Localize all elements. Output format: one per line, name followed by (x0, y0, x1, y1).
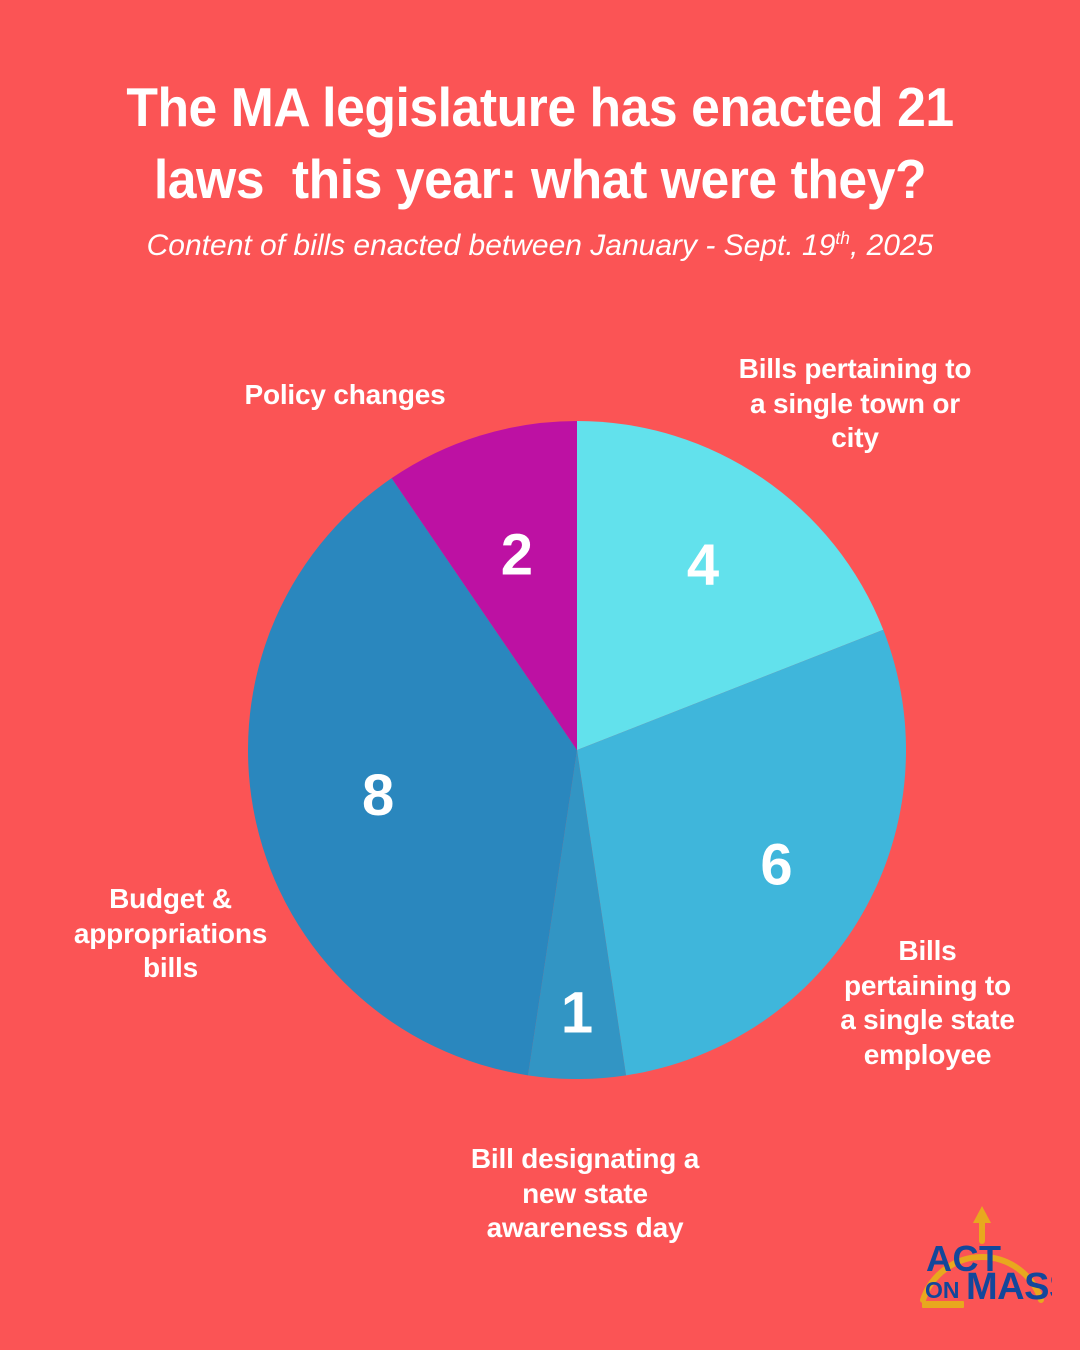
pie-label-line: pertaining to (800, 969, 1055, 1004)
pie-label-line: Bills pertaining to (700, 352, 1010, 387)
pie-label-line: Policy changes (190, 378, 500, 413)
logo-svg: ACT ON MASS (912, 1196, 1052, 1314)
logo-text-on: ON (925, 1277, 960, 1303)
pie-label-line: a single state (800, 1003, 1055, 1038)
page-subtitle: Content of bills enacted between January… (0, 228, 1080, 263)
pie-slice-value: 8 (362, 763, 394, 828)
page-subtitle-suffix: , 2025 (850, 229, 933, 262)
pie-label-line: appropriations (28, 917, 313, 952)
page-title: The MA legislature has enacted 21 laws t… (32, 72, 1047, 215)
pie-label-line: employee (800, 1038, 1055, 1073)
infographic-canvas: The MA legislature has enacted 21 laws t… (0, 0, 1080, 1350)
pie-label-line: new state (420, 1177, 750, 1212)
pie-label-line: Budget & (28, 882, 313, 917)
pie-label-policy-changes: Policy changes (190, 378, 500, 413)
logo-text-mass: MASS (966, 1266, 1052, 1308)
page-subtitle-prefix: Content of bills enacted between January… (147, 229, 836, 262)
pie-label-line: a single town or (700, 387, 1010, 422)
pie-slice-value: 1 (561, 981, 593, 1046)
pie-slice-value: 2 (501, 523, 533, 588)
pie-label-single-town-or-city: Bills pertaining to a single town or cit… (700, 352, 1010, 456)
pie-label-line: Bill designating a (420, 1142, 750, 1177)
pie-slice-value: 6 (760, 833, 792, 898)
pie-label-line: Bills (800, 934, 1055, 969)
pie-label-single-state-employee: Bills pertaining to a single state emplo… (800, 934, 1055, 1073)
pie-label-new-state-awareness-day: Bill designating a new state awareness d… (420, 1142, 750, 1246)
pie-slice-value: 4 (687, 533, 719, 598)
page-subtitle-superscript: th (835, 228, 850, 248)
pie-label-budget-appropriations-bills: Budget & appropriations bills (28, 882, 313, 986)
arrow-head-icon (973, 1206, 991, 1223)
act-on-mass-logo[interactable]: ACT ON MASS (912, 1196, 1052, 1314)
page-title-line-1: The MA legislature has enacted 21 (32, 72, 1047, 144)
pie-label-line: city (700, 421, 1010, 456)
pie-label-line: awareness day (420, 1211, 750, 1246)
pie-label-line: bills (28, 951, 313, 986)
page-title-line-2: laws this year: what were they? (32, 144, 1047, 216)
